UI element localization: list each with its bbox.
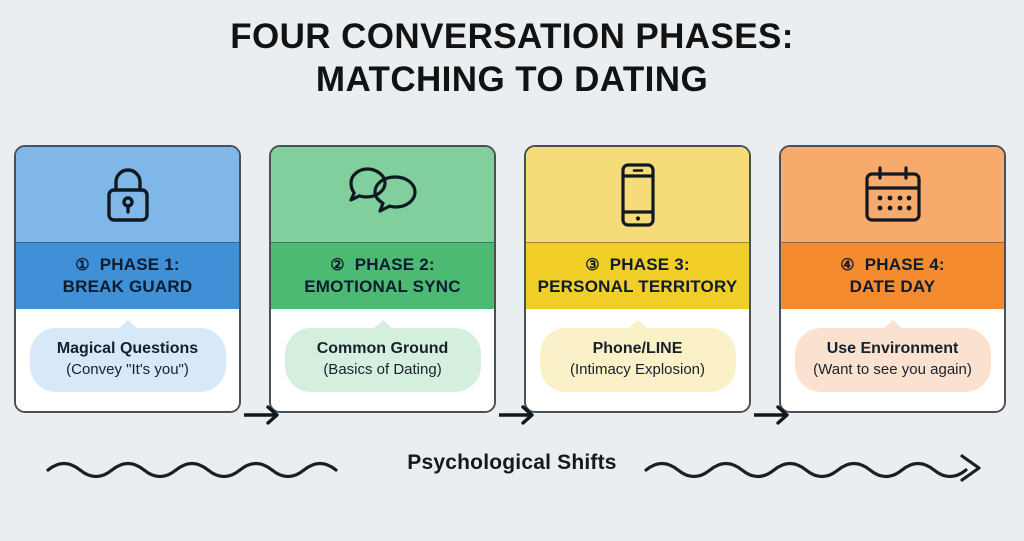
title-line-1: FOUR CONVERSATION PHASES: <box>0 16 1024 59</box>
phase-1-callout-subtitle: (Convey "It's you") <box>36 360 220 380</box>
phase-4-callout: Use Environment (Want to see you again) <box>795 328 991 391</box>
phase-card-4[interactable]: ④ PHASE 4: DATE DAY Use Environment (Wan… <box>779 145 1006 413</box>
phase-cards-row: ① PHASE 1: BREAK GUARD Magical Questions… <box>0 145 1024 415</box>
psychological-shifts-strip: Psychological Shifts <box>0 440 1024 502</box>
phase-card-3[interactable]: ③ PHASE 3: PERSONAL TERRITORY Phone/LINE… <box>524 145 751 413</box>
phase-3-heading-line-1: ③ PHASE 3: <box>585 254 690 276</box>
phase-2-heading-line-1: ② PHASE 2: <box>330 254 435 276</box>
phase-3-number: ③ <box>585 257 600 274</box>
phase-4-number: ④ <box>840 257 855 274</box>
phase-1-icon-pane <box>16 147 239 242</box>
arrow-phase2-to-phase3 <box>499 400 543 430</box>
calendar-icon <box>862 165 924 225</box>
arrow-phase3-to-phase4 <box>754 400 798 430</box>
phase-3-title: PHASE 3: <box>610 255 690 274</box>
phase-2-callout-subtitle: (Basics of Dating) <box>291 360 475 380</box>
phase-4-heading-line-2: DATE DAY <box>850 276 936 297</box>
title-line-2: MATCHING TO DATING <box>0 59 1024 102</box>
phase-4-callout-subtitle: (Want to see you again) <box>801 360 985 380</box>
phase-2-title: PHASE 2: <box>355 255 435 274</box>
arrow-phase1-to-phase2 <box>244 400 288 430</box>
phase-2-icon-pane <box>271 147 494 242</box>
phase-2-heading-line-2: EMOTIONAL SYNC <box>304 276 460 297</box>
phase-2-callout: Common Ground (Basics of Dating) <box>285 328 481 391</box>
phase-2-callout-title: Common Ground <box>291 339 475 360</box>
phase-2-heading-band: ② PHASE 2: EMOTIONAL SYNC <box>271 242 494 309</box>
phase-3-icon-pane <box>526 147 749 242</box>
phase-3-heading-line-2: PERSONAL TERRITORY <box>538 276 738 297</box>
phase-card-2[interactable]: ② PHASE 2: EMOTIONAL SYNC Common Ground … <box>269 145 496 413</box>
phase-1-heading-line-2: BREAK GUARD <box>63 276 193 297</box>
phase-3-heading-band: ③ PHASE 3: PERSONAL TERRITORY <box>526 242 749 309</box>
phase-4-pill-pane: Use Environment (Want to see you again) <box>781 309 1004 411</box>
phase-4-title: PHASE 4: <box>865 255 945 274</box>
phase-1-title: PHASE 1: <box>100 255 180 274</box>
psychological-shifts-label: Psychological Shifts <box>0 451 1024 475</box>
phase-1-pill-pane: Magical Questions (Convey "It's you") <box>16 309 239 411</box>
phase-4-heading-band: ④ PHASE 4: DATE DAY <box>781 242 1004 309</box>
page-title: FOUR CONVERSATION PHASES: MATCHING TO DA… <box>0 16 1024 101</box>
speech-bubbles-icon <box>347 166 419 224</box>
phase-1-number: ① <box>75 257 90 274</box>
phase-1-heading-line-1: ① PHASE 1: <box>75 254 180 276</box>
phase-2-number: ② <box>330 257 345 274</box>
phase-3-callout-title: Phone/LINE <box>546 339 730 360</box>
phase-4-icon-pane <box>781 147 1004 242</box>
phase-1-heading-band: ① PHASE 1: BREAK GUARD <box>16 242 239 309</box>
phase-4-callout-title: Use Environment <box>801 339 985 360</box>
phase-3-callout: Phone/LINE (Intimacy Explosion) <box>540 328 736 391</box>
phase-4-heading-line-1: ④ PHASE 4: <box>840 254 945 276</box>
smartphone-icon <box>617 162 659 228</box>
phase-card-1[interactable]: ① PHASE 1: BREAK GUARD Magical Questions… <box>14 145 241 413</box>
phase-3-callout-subtitle: (Intimacy Explosion) <box>546 360 730 380</box>
phase-1-callout: Magical Questions (Convey "It's you") <box>30 328 226 391</box>
lock-icon <box>101 165 155 225</box>
phase-1-callout-title: Magical Questions <box>36 339 220 360</box>
phase-3-pill-pane: Phone/LINE (Intimacy Explosion) <box>526 309 749 411</box>
phase-2-pill-pane: Common Ground (Basics of Dating) <box>271 309 494 411</box>
